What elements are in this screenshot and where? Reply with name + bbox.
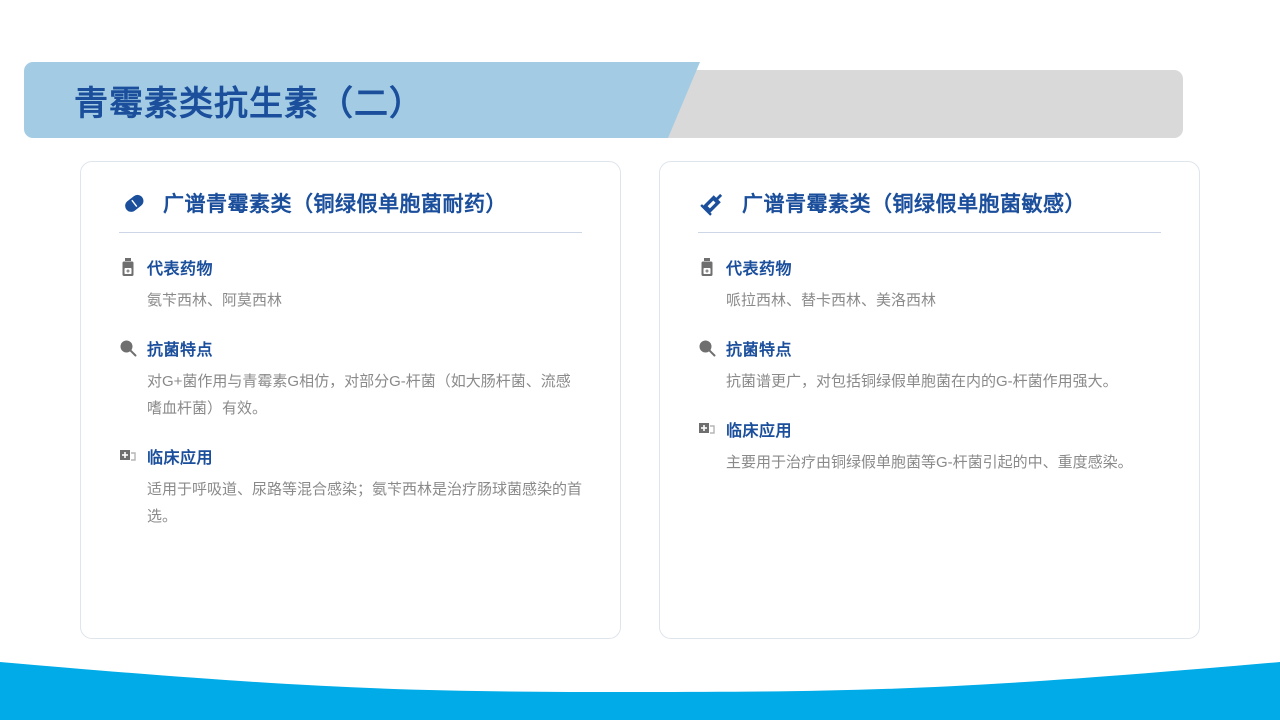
section-label: 代表药物	[147, 255, 213, 279]
page-title: 青霉素类抗生素（二）	[74, 76, 424, 125]
card-header: 广谱青霉素类（铜绿假单胞菌耐药）	[119, 188, 582, 233]
first-aid-icon	[698, 419, 716, 439]
magnifier-icon	[698, 338, 716, 358]
first-aid-icon	[119, 446, 137, 466]
card-container: 广谱青霉素类（铜绿假单胞菌耐药） 代表药物 氨苄西林、阿莫西林	[0, 161, 1280, 641]
card-penicillin-resistant: 广谱青霉素类（铜绿假单胞菌耐药） 代表药物 氨苄西林、阿莫西林	[80, 161, 621, 639]
card-penicillin-sensitive: 广谱青霉素类（铜绿假单胞菌敏感） 代表药物 哌拉西林、替卡西林、美洛西林	[659, 161, 1200, 639]
slide-title-banner: 青霉素类抗生素（二）	[0, 62, 1280, 138]
section-body: 对G+菌作用与青霉素G相仿，对部分G-杆菌（如大肠杆菌、流感嗜血杆菌）有效。	[147, 368, 582, 422]
section-header: 抗菌特点	[119, 336, 582, 360]
magnifier-icon	[119, 338, 137, 358]
section-representative-drugs: 代表药物 哌拉西林、替卡西林、美洛西林	[698, 255, 1161, 314]
section-body: 主要用于治疗由铜绿假单胞菌等G-杆菌引起的中、重度感染。	[726, 449, 1161, 476]
card-title: 广谱青霉素类（铜绿假单胞菌耐药）	[163, 188, 507, 218]
section-body: 氨苄西林、阿莫西林	[147, 287, 582, 314]
section-antibacterial-features: 抗菌特点 对G+菌作用与青霉素G相仿，对部分G-杆菌（如大肠杆菌、流感嗜血杆菌）…	[119, 336, 582, 422]
capsule-icon	[119, 188, 149, 218]
section-label: 抗菌特点	[147, 336, 213, 360]
syringe-icon	[698, 188, 728, 218]
section-header: 临床应用	[119, 444, 582, 468]
banner-gray-panel	[655, 70, 1183, 138]
card-header: 广谱青霉素类（铜绿假单胞菌敏感）	[698, 188, 1161, 233]
section-header: 代表药物	[698, 255, 1161, 279]
section-body: 适用于呼吸道、尿路等混合感染；氨苄西林是治疗肠球菌感染的首选。	[147, 476, 582, 530]
section-label: 抗菌特点	[726, 336, 792, 360]
section-body: 哌拉西林、替卡西林、美洛西林	[726, 287, 1161, 314]
banner-blue-panel: 青霉素类抗生素（二）	[24, 62, 710, 138]
section-representative-drugs: 代表药物 氨苄西林、阿莫西林	[119, 255, 582, 314]
section-header: 抗菌特点	[698, 336, 1161, 360]
section-clinical-application: 临床应用 主要用于治疗由铜绿假单胞菌等G-杆菌引起的中、重度感染。	[698, 417, 1161, 476]
section-label: 临床应用	[147, 444, 213, 468]
medicine-bottle-icon	[698, 257, 716, 277]
section-clinical-application: 临床应用 适用于呼吸道、尿路等混合感染；氨苄西林是治疗肠球菌感染的首选。	[119, 444, 582, 530]
section-label: 代表药物	[726, 255, 792, 279]
section-header: 临床应用	[698, 417, 1161, 441]
section-header: 代表药物	[119, 255, 582, 279]
section-label: 临床应用	[726, 417, 792, 441]
card-title: 广谱青霉素类（铜绿假单胞菌敏感）	[742, 188, 1086, 218]
section-body: 抗菌谱更广，对包括铜绿假单胞菌在内的G-杆菌作用强大。	[726, 368, 1161, 395]
medicine-bottle-icon	[119, 257, 137, 277]
bottom-wave-decoration	[0, 642, 1280, 720]
section-antibacterial-features: 抗菌特点 抗菌谱更广，对包括铜绿假单胞菌在内的G-杆菌作用强大。	[698, 336, 1161, 395]
